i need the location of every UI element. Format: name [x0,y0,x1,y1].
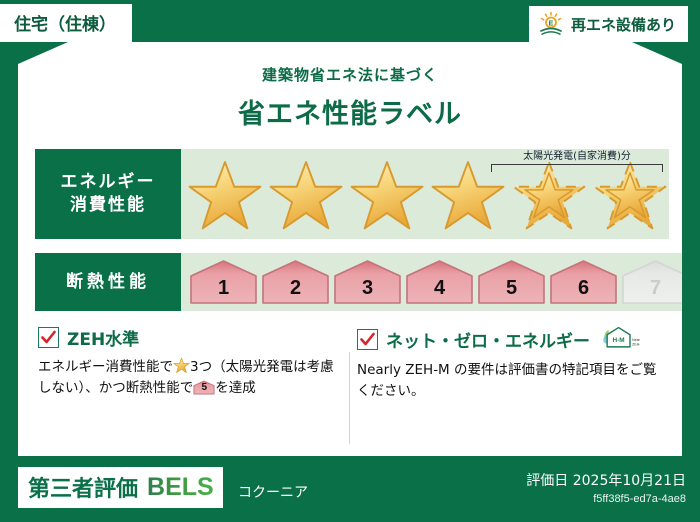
note-header: ネット・ゼロ・エネルギー H-M Nearly ZEH-M [357,325,662,353]
star-filled [429,159,507,233]
star-filled [186,159,264,233]
insulation-level-scale: 1 2 3 [188,259,691,305]
insulation-level-badge: 3 [332,259,403,305]
bels-certification-mark: 第三者評価 BELS [18,467,223,508]
notes-divider [349,352,350,444]
svg-text:E: E [549,21,554,28]
insulation-level-badge: 4 [404,259,475,305]
insulation-level-badge: 5 [476,259,547,305]
label-panel: 建築物省エネ法に基づく 省エネ性能ラベル エネルギー 消費性能 太陽光発電(自家… [18,42,682,456]
title-subtitle: 建築物省エネ法に基づく [18,64,682,85]
zeh-m-caption-line1: Nearly [632,338,640,342]
sun-renewable-icon: E [538,11,564,37]
energy-star-rating [186,159,669,233]
evaluation-info: 評価日 2025年10月21日 f5ff38f5-ed7a-4ae8 [526,470,686,505]
insulation-level-number: 5 [476,277,547,300]
evaluation-id: f5ff38f5-ed7a-4ae8 [526,493,686,505]
note-header: ZEH水準 [38,325,343,350]
note-title: ZEH水準 [67,325,139,350]
note-title: ネット・ゼロ・エネルギー [386,327,590,352]
check-icon [360,332,375,347]
insulation-level-number: 3 [332,277,403,300]
note-text-star-count: 3つ（太陽光発電 [190,359,293,375]
check-icon [41,330,56,345]
title-block: 建築物省エネ法に基づく 省エネ性能ラベル [18,42,682,131]
energy-row-label-line2: 消費性能 [70,194,146,217]
note-body: Nearly ZEH-M の要件は評価書の特記項目をご覧ください。 [357,360,662,402]
footer: 第三者評価 BELS コクーニア 評価日 2025年10月21日 f5ff38f… [0,460,700,522]
insulation-level-badge-inactive: 7 [620,259,691,305]
insulation-level-badge: 1 [188,259,259,305]
net-zero-energy-checkbox [357,329,378,350]
note-zeh-standard: ZEH水準 エネルギー消費性能で 3つ（太陽光発電は考慮しない）、かつ断熱性能で… [38,325,343,402]
note-text-post: を達成 [215,380,256,396]
zeh-standard-checkbox [38,327,59,348]
energy-row-label-line1: エネルギー [61,171,156,194]
insulation-level-number: 7 [620,277,691,300]
insulation-level-badge: 2 [260,259,331,305]
building-type-tag-label: 住宅（住棟） [14,10,116,35]
energy-performance-label: 住宅（住棟） E 再エネ設備あり 建築物省エネ法に基づく 省エネ性能ラベル [0,0,700,522]
evaluation-date: 評価日 2025年10月21日 [526,470,686,490]
svg-text:H-M: H-M [613,337,625,344]
bels-logo-text: BELS [147,473,214,502]
insulation-level-number: 4 [404,277,475,300]
energy-performance-row: エネルギー 消費性能 太陽光発電(自家消費)分 [35,149,665,239]
star-filled [348,159,426,233]
page-title: 省エネ性能ラベル [18,92,682,131]
owner-name: コクーニア [238,482,308,502]
energy-row-label: エネルギー 消費性能 [35,149,181,239]
zeh-m-house-logo-icon: H-M Nearly ZEH-M [600,325,640,353]
note-body: エネルギー消費性能で 3つ（太陽光発電は考慮しない）、かつ断熱性能で 5を達成 [38,357,343,399]
renewable-equipment-badge: E 再エネ設備あり [529,6,688,42]
insulation-level-badge: 6 [548,259,619,305]
star-solar [510,159,588,233]
note-text-pre: エネルギー消費性能で [38,359,173,375]
inline-house-badge-icon: 5 [193,379,215,396]
insulation-row-body: 1 2 3 [181,253,691,311]
insulation-performance-row: 断熱性能 [35,253,665,311]
third-party-label: 第三者評価 [28,471,138,503]
insulation-level-number: 2 [260,277,331,300]
insulation-level-number: 6 [548,277,619,300]
inline-star-icon [173,357,190,374]
note-net-zero-energy: ネット・ゼロ・エネルギー H-M Nearly ZEH-M Nearly ZEH… [357,325,662,402]
energy-row-body: 太陽光発電(自家消費)分 [181,149,669,239]
inline-house-number: 5 [193,380,215,396]
star-solar [591,159,669,233]
performance-rows: エネルギー 消費性能 太陽光発電(自家消費)分 [18,149,682,311]
renewable-badge-label: 再エネ設備あり [571,14,676,35]
insulation-level-number: 1 [188,277,259,300]
notes-section: ZEH水準 エネルギー消費性能で 3つ（太陽光発電は考慮しない）、かつ断熱性能で… [18,311,682,402]
insulation-row-label: 断熱性能 [35,253,181,311]
building-type-tag: 住宅（住棟） [0,4,132,42]
zeh-m-caption-line2: ZEH-M [632,342,640,346]
star-filled [267,159,345,233]
